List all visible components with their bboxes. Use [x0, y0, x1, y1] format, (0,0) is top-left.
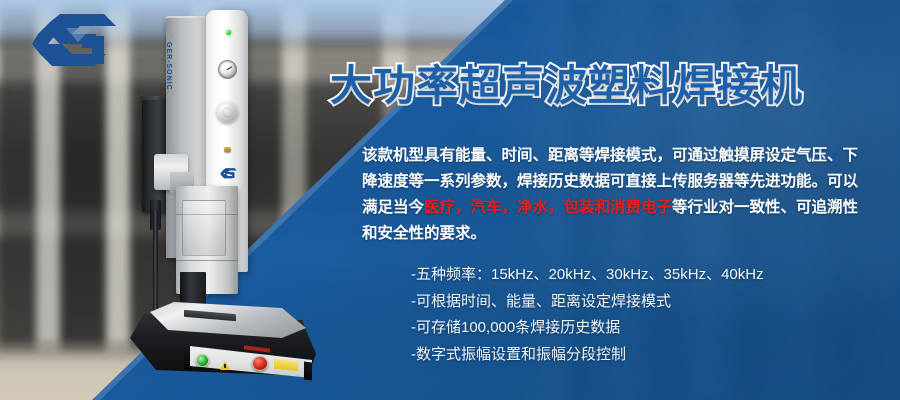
pressure-gauge-icon [218, 60, 237, 79]
ger-sonic-badge-icon [219, 167, 238, 181]
base-vent [304, 361, 312, 380]
regulator-knob-icon[interactable] [217, 102, 238, 123]
page-title: 大功率超声波塑料焊接机 [330, 52, 803, 113]
ultrasonic-welder-machine: GER-SONIC [128, 4, 318, 400]
green-led-icon [226, 30, 231, 35]
list-item: -可根据时间、能量、距离设定焊接模式 [411, 289, 764, 316]
description-highlight-industries: 医疗，汽车，净水，包装和消费电子 [424, 199, 672, 216]
housing-seam [176, 260, 238, 261]
feature-list: -五种频率：15kHz、20kHz、30kHz、35kHz、40kHz -可根据… [411, 262, 764, 368]
warning-triangle-icon [220, 361, 230, 370]
green-start-button-icon[interactable] [196, 354, 209, 367]
product-description: 该款机型具有能量、时间、距离等焊接模式，可通过触摸屏设定气压、下降速度等一系列参… [362, 143, 862, 247]
housing-screw [170, 34, 173, 37]
list-item: -五种频率：15kHz、20kHz、30kHz、35kHz、40kHz [411, 262, 764, 289]
ger-sonic-logo-icon [26, 12, 122, 76]
list-item: -可存储100,000条焊接历史数据 [411, 315, 764, 342]
brass-fitting-icon [224, 147, 231, 152]
product-banner: 大功率超声波塑料焊接机 该款机型具有能量、时间、距离等焊接模式，可通过触摸屏设定… [0, 0, 900, 400]
transducer-access-plate [182, 200, 226, 256]
emergency-stop-icon[interactable] [252, 356, 268, 371]
list-item: -数字式振幅设置和振幅分段控制 [411, 342, 764, 369]
brand-label: GER-SONIC [165, 42, 172, 91]
rail-rod [153, 210, 158, 320]
